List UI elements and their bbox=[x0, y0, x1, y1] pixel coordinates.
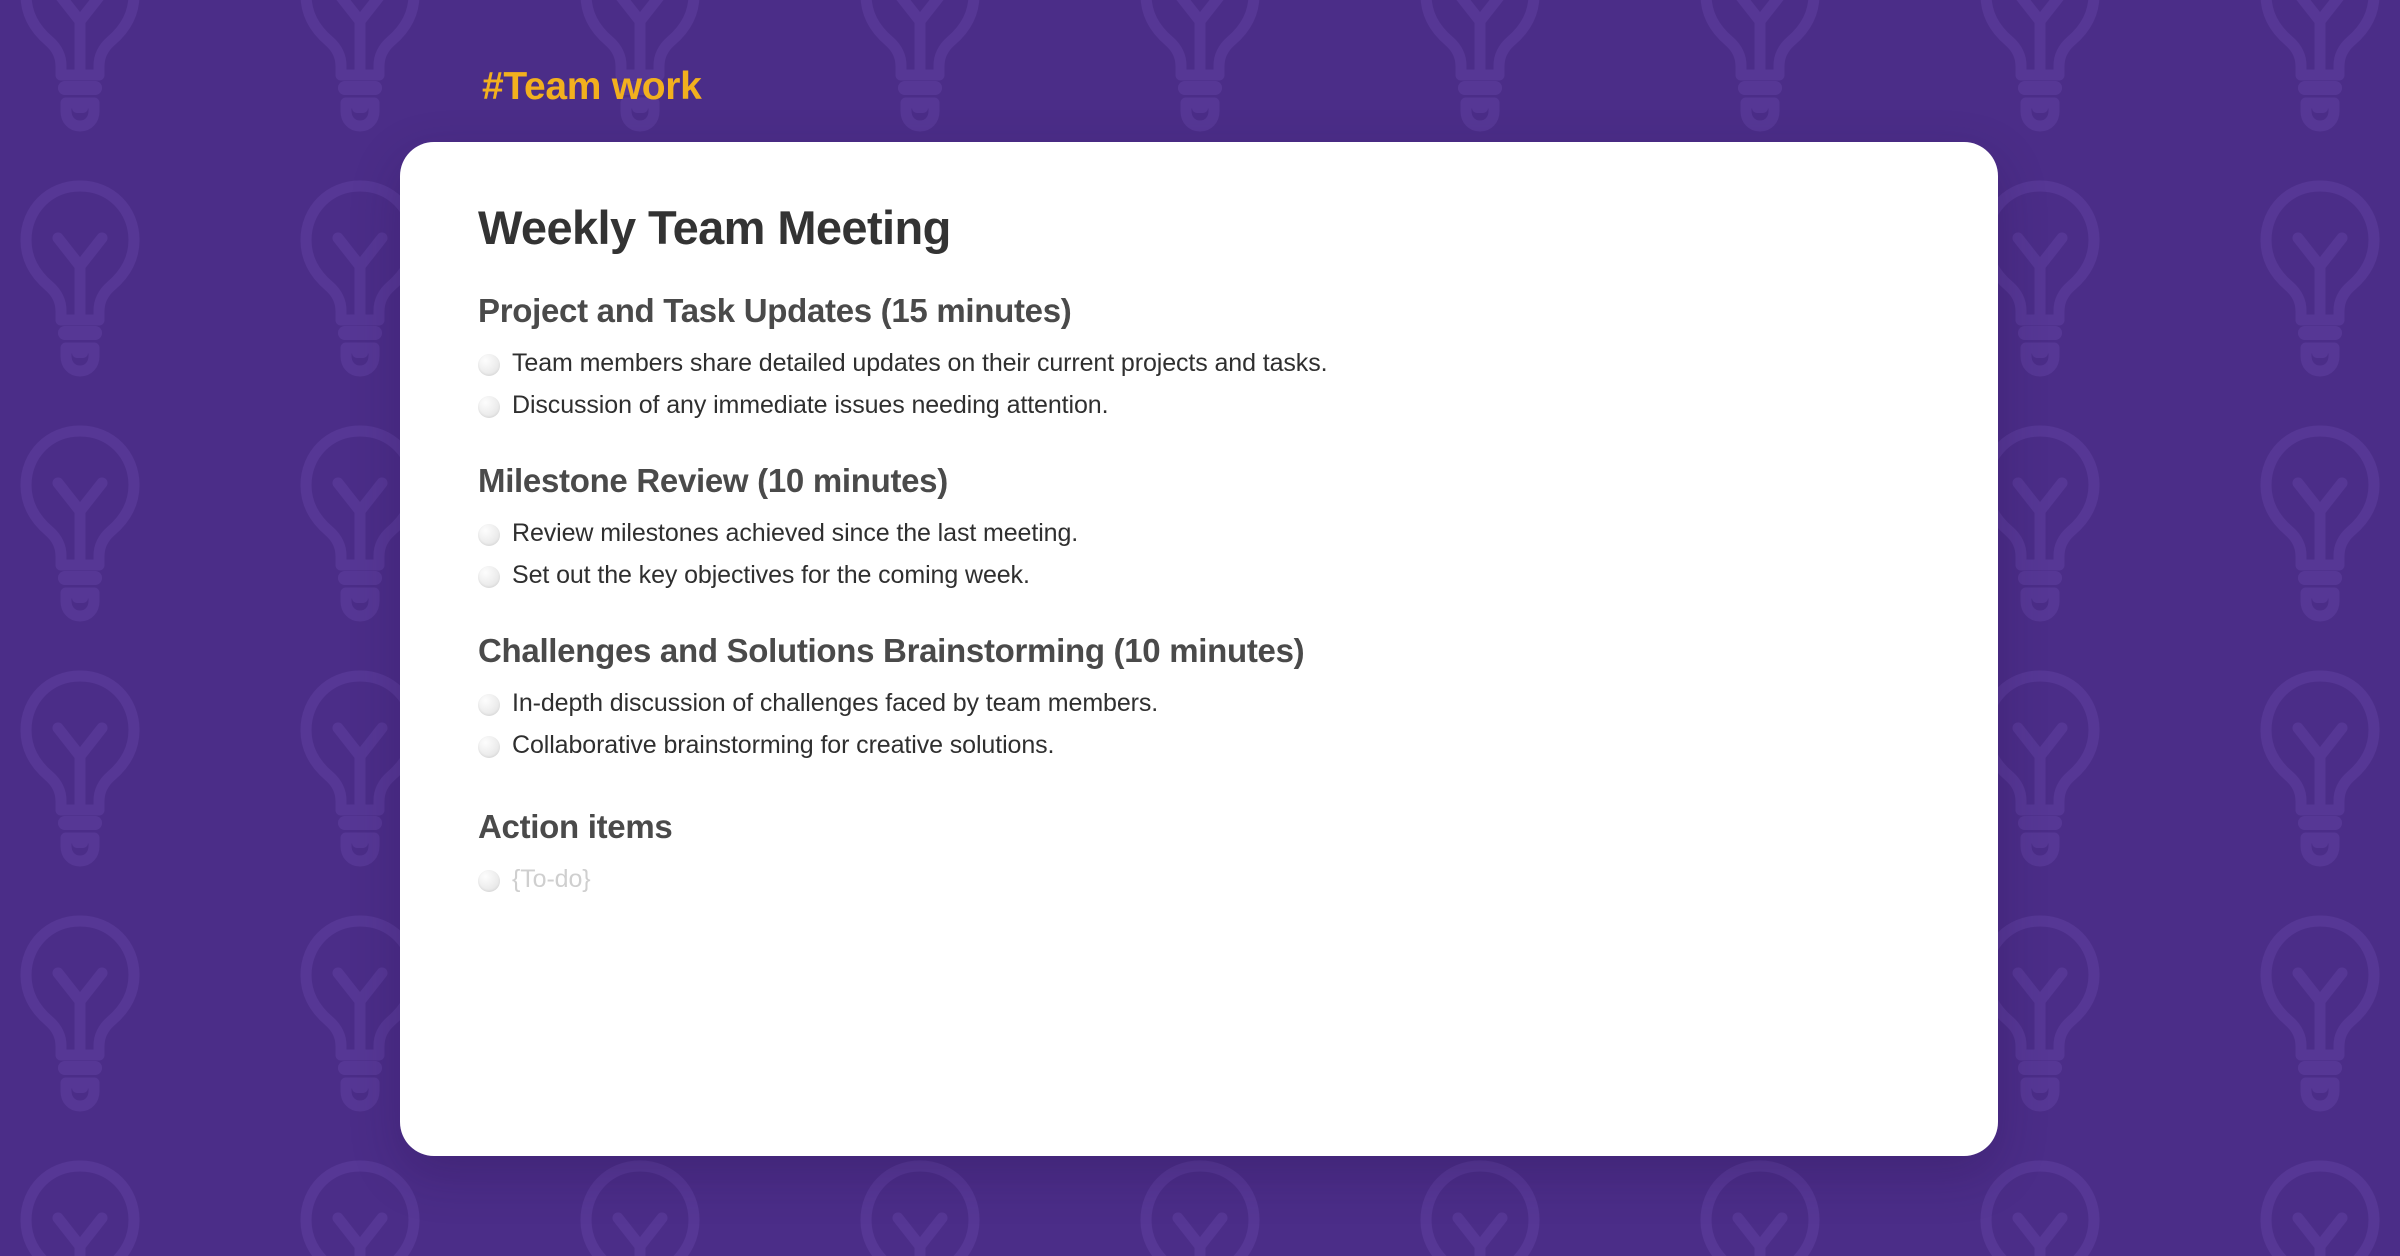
list-item[interactable]: {To-do} bbox=[478, 859, 1958, 901]
list-item[interactable]: Collaborative brainstorming for creative… bbox=[478, 725, 1958, 767]
section-heading: Project and Task Updates (15 minutes) bbox=[478, 290, 1958, 333]
screen-canvas: #Team work Weekly Team Meeting Project a… bbox=[0, 0, 2400, 1256]
bullet-circle-icon[interactable] bbox=[478, 694, 500, 716]
list-item-label: Collaborative brainstorming for creative… bbox=[512, 728, 1054, 764]
section-heading: Milestone Review (10 minutes) bbox=[478, 460, 1958, 503]
bullet-list: {To-do} bbox=[478, 859, 1958, 901]
bullet-circle-icon[interactable] bbox=[478, 736, 500, 758]
list-item[interactable]: Set out the key objectives for the comin… bbox=[478, 555, 1958, 597]
list-item[interactable]: In-depth discussion of challenges faced … bbox=[478, 683, 1958, 725]
list-item[interactable]: Review milestones achieved since the las… bbox=[478, 513, 1958, 555]
section-action-items: Action items {To-do} bbox=[478, 806, 1958, 900]
list-item-label: Set out the key objectives for the comin… bbox=[512, 558, 1030, 594]
section-challenges-and-solutions-brainstorming: Challenges and Solutions Brainstorming (… bbox=[478, 630, 1958, 766]
bullet-circle-icon[interactable] bbox=[478, 870, 500, 892]
bullet-list: Team members share detailed updates on t… bbox=[478, 343, 1958, 426]
section-heading: Action items bbox=[478, 806, 1958, 849]
note-card-content: Weekly Team Meeting Project and Task Upd… bbox=[478, 142, 1958, 900]
note-card: Weekly Team Meeting Project and Task Upd… bbox=[400, 142, 1998, 1156]
page-title: Weekly Team Meeting bbox=[478, 142, 1958, 256]
section-project-and-task-updates: Project and Task Updates (15 minutes) Te… bbox=[478, 290, 1958, 426]
bullet-circle-icon[interactable] bbox=[478, 354, 500, 376]
list-item-label: Team members share detailed updates on t… bbox=[512, 346, 1327, 382]
list-item-label: In-depth discussion of challenges faced … bbox=[512, 686, 1158, 722]
todo-placeholder-label[interactable]: {To-do} bbox=[512, 862, 591, 898]
list-item[interactable]: Team members share detailed updates on t… bbox=[478, 343, 1958, 385]
section-milestone-review: Milestone Review (10 minutes) Review mil… bbox=[478, 460, 1958, 596]
list-item[interactable]: Discussion of any immediate issues needi… bbox=[478, 385, 1958, 427]
bullet-list: In-depth discussion of challenges faced … bbox=[478, 683, 1958, 766]
bullet-circle-icon[interactable] bbox=[478, 396, 500, 418]
bullet-list: Review milestones achieved since the las… bbox=[478, 513, 1958, 596]
section-heading: Challenges and Solutions Brainstorming (… bbox=[478, 630, 1958, 673]
list-item-label: Discussion of any immediate issues needi… bbox=[512, 388, 1108, 424]
bullet-circle-icon[interactable] bbox=[478, 524, 500, 546]
list-item-label: Review milestones achieved since the las… bbox=[512, 516, 1078, 552]
team-work-tag[interactable]: #Team work bbox=[482, 66, 702, 109]
bullet-circle-icon[interactable] bbox=[478, 566, 500, 588]
